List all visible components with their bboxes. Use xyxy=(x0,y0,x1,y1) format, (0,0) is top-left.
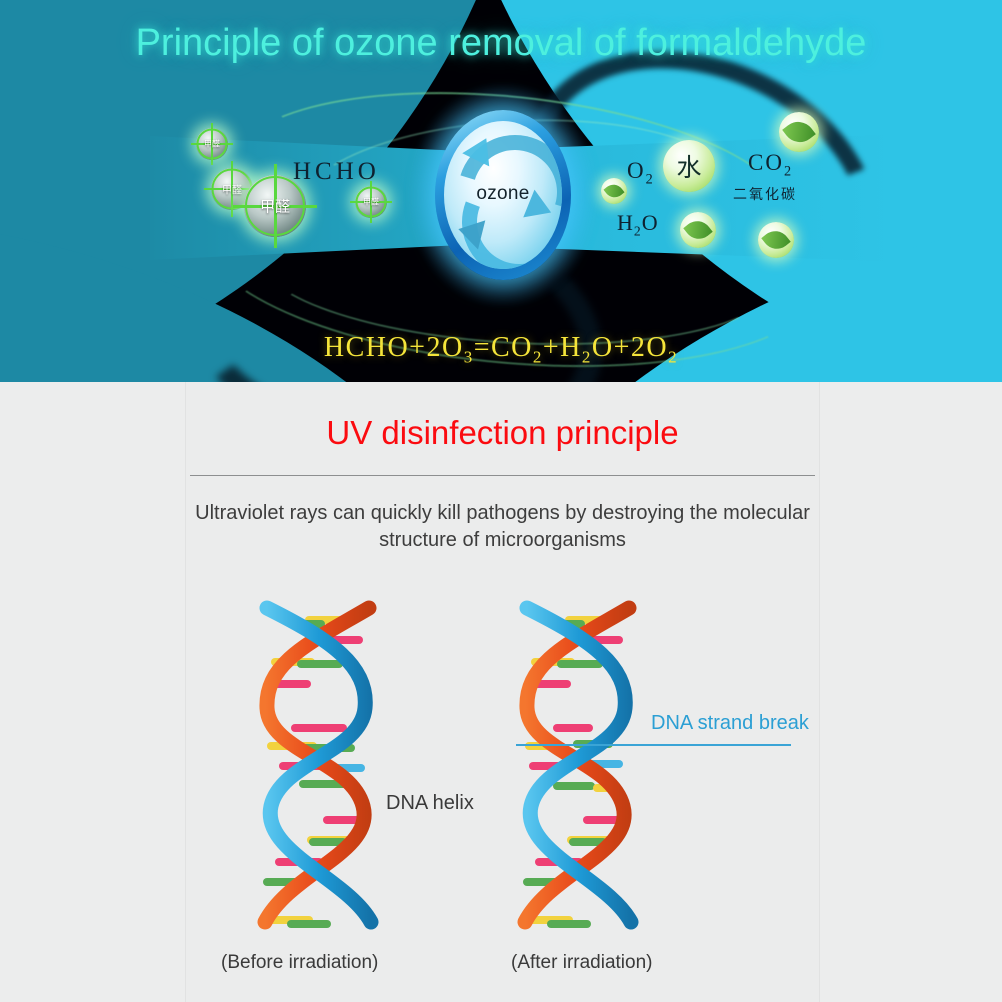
dna-intact-svg xyxy=(251,600,401,930)
chemical-equation: HCHO+2O3=CO2+H2O+2O2 xyxy=(0,332,1002,368)
caption-before-irradiation: (Before irradiation) xyxy=(221,952,378,974)
h2o-base: H xyxy=(617,210,634,235)
orb-face: ozone xyxy=(444,121,562,269)
leaf-shape xyxy=(782,115,816,149)
leaf-bubble-1-icon xyxy=(779,112,819,152)
water-bubble-icon: 水 xyxy=(663,140,715,192)
formaldehyde-target-small-1-icon: 甲醛 xyxy=(196,128,228,160)
co2-label: CO2 xyxy=(748,150,793,181)
formaldehyde-target-small-2-icon: 甲醛 xyxy=(355,186,387,218)
dna-break-leader-line xyxy=(516,744,791,746)
equation-sub-3: 2 xyxy=(582,348,592,367)
dna-broken-svg xyxy=(511,600,661,930)
target-label: 甲醛 xyxy=(196,139,228,150)
h2o-sub: 2 xyxy=(634,223,642,238)
h2o-label: H2O xyxy=(617,210,659,239)
leaf-shape xyxy=(683,215,712,244)
leaf-bubble-4-icon xyxy=(758,222,794,258)
uv-panel-subtitle: Ultraviolet rays can quickly kill pathog… xyxy=(192,500,813,554)
dna-strand-break-label: DNA strand break xyxy=(651,712,809,735)
ozone-orb-label: ozone xyxy=(444,183,562,205)
infographic-page: 甲醛 甲醛 甲醛 甲醛 水 HCHO O2 CO xyxy=(0,0,1002,1002)
equation-part-1: HCHO+2O xyxy=(324,332,464,363)
leaf-shape xyxy=(603,180,624,201)
dna-helix-label: DNA helix xyxy=(386,792,474,815)
equation-sub-2: 2 xyxy=(533,348,543,367)
equation-sub-1: 3 xyxy=(464,348,474,367)
carbon-dioxide-chinese-label: 二氧化碳 xyxy=(733,184,797,204)
equation-part-4: O+2O xyxy=(592,332,668,363)
co2-base: CO xyxy=(748,150,784,175)
uv-content-panel: UV disinfection principle Ultraviolet ra… xyxy=(185,382,820,1002)
o2-base: O xyxy=(627,158,646,183)
dna-helix-intact xyxy=(251,600,401,930)
leaf-bubble-2-icon xyxy=(601,178,627,204)
dna-helix-broken xyxy=(511,600,661,930)
ozone-panel-title: Principle of ozone removal of formaldehy… xyxy=(0,22,1002,65)
leaf-bubble-3-icon xyxy=(680,212,716,248)
equation-part-3: +H xyxy=(543,332,582,363)
target-label: 甲醛 xyxy=(244,196,306,217)
equation-part-2: =CO xyxy=(474,332,533,363)
hcho-label: HCHO xyxy=(293,158,380,186)
target-label: 甲醛 xyxy=(355,197,387,208)
equation-sub-4: 2 xyxy=(668,348,678,367)
ozone-principle-panel: 甲醛 甲醛 甲醛 甲醛 水 HCHO O2 CO xyxy=(0,0,1002,382)
leaf-shape xyxy=(761,225,790,254)
co2-sub: 2 xyxy=(784,164,793,180)
water-character-label: 水 xyxy=(663,148,715,184)
o2-sub: 2 xyxy=(646,172,655,188)
o2-label: O2 xyxy=(627,158,655,189)
uv-disinfection-panel: UV disinfection principle Ultraviolet ra… xyxy=(0,382,1002,1002)
ozone-orb: ozone xyxy=(435,110,571,280)
caption-after-irradiation: (After irradiation) xyxy=(511,952,653,974)
h2o-tail: O xyxy=(642,210,659,235)
uv-panel-title: UV disinfection principle xyxy=(186,414,819,452)
title-divider xyxy=(190,475,815,476)
